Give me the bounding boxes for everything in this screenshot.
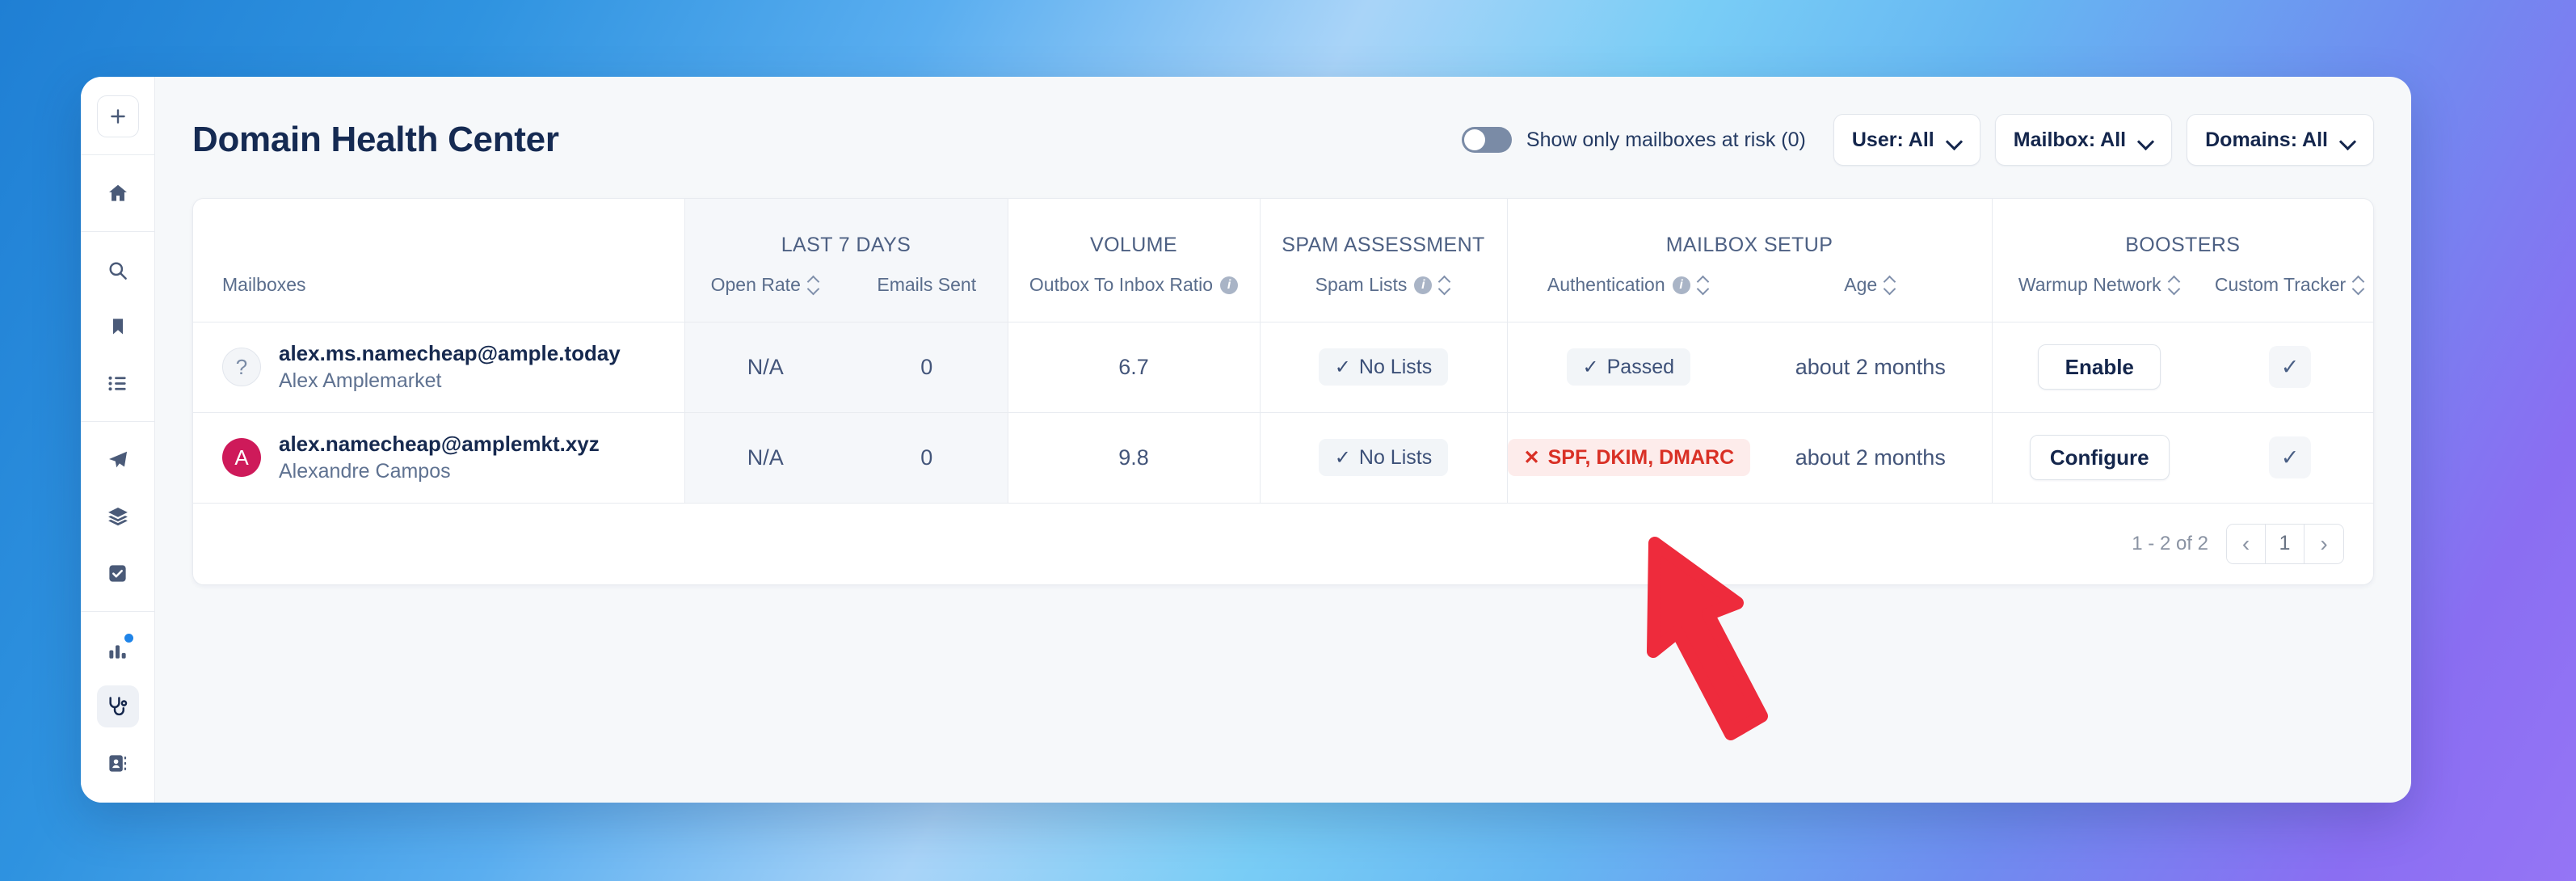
column-header-outbox-to-inbox-ratio: Outbox To Inbox Ratio i — [1008, 262, 1260, 322]
sort-icon[interactable] — [1698, 275, 1710, 296]
mailbox-email[interactable]: alex.ms.namecheap@ample.today — [279, 341, 621, 366]
group-header-volume: VOLUME — [1008, 199, 1260, 262]
risk-filter-toggle-group: Show only mailboxes at risk (0) — [1462, 127, 1806, 153]
desktop-background: Domain Health Center Show only mailboxes… — [0, 0, 2576, 881]
sidebar-group-work — [81, 432, 154, 601]
pagination-prev-button[interactable]: ‹ — [2227, 525, 2266, 563]
filter-mailbox-dropdown[interactable]: Mailbox: All — [1995, 114, 2172, 166]
column-header-open-rate[interactable]: Open Rate — [684, 262, 846, 322]
cell-mailbox: ? alex.ms.namecheap@ample.today Alex Amp… — [193, 322, 684, 412]
status-badge-authentication: ✓ Passed — [1567, 348, 1691, 386]
domain-health-table: LAST 7 DAYS VOLUME SPAM ASSESSMENT MAILB… — [193, 199, 2373, 504]
left-sidebar — [81, 77, 155, 803]
column-header-open-rate-label: Open Rate — [711, 274, 801, 296]
column-header-emails-sent-label: Emails Sent — [877, 274, 976, 296]
info-icon[interactable]: i — [1673, 276, 1690, 294]
notification-dot-badge — [124, 634, 133, 643]
domain-health-table-card: LAST 7 DAYS VOLUME SPAM ASSESSMENT MAILB… — [192, 198, 2374, 585]
column-header-spam-lists[interactable]: Spam Lists i — [1260, 262, 1507, 322]
page-header: Domain Health Center Show only mailboxes… — [192, 109, 2374, 171]
bar-chart-icon — [107, 639, 128, 661]
plus-icon — [107, 106, 128, 127]
sidebar-item-domain-health[interactable] — [97, 685, 139, 727]
status-badge-authentication-label: Passed — [1607, 356, 1674, 379]
table-row[interactable]: ? alex.ms.namecheap@ample.today Alex Amp… — [193, 322, 2373, 412]
sidebar-item-add[interactable] — [97, 95, 139, 137]
pagination-controls: ‹ 1 › — [2226, 524, 2344, 564]
sidebar-item-home[interactable] — [97, 172, 139, 214]
app-window: Domain Health Center Show only mailboxes… — [81, 77, 2411, 803]
avatar: A — [222, 438, 261, 477]
column-header-mailboxes: Mailboxes — [193, 262, 684, 322]
group-header-spam-assessment: SPAM ASSESSMENT — [1260, 199, 1507, 262]
group-header-last-7-days: LAST 7 DAYS — [684, 199, 1008, 262]
table-body: ? alex.ms.namecheap@ample.today Alex Amp… — [193, 322, 2373, 503]
sort-icon[interactable] — [2169, 275, 2181, 296]
cell-spam-lists: ✓ No Lists — [1260, 322, 1507, 412]
sidebar-divider-4 — [81, 611, 154, 612]
checkbox-icon — [107, 563, 128, 584]
cell-authentication: ✓ Passed — [1507, 322, 1749, 412]
show-only-at-risk-label: Show only mailboxes at risk (0) — [1526, 129, 1806, 152]
cell-authentication: ✕ SPF, DKIM, DMARC — [1507, 412, 1749, 503]
mailbox-owner-name: Alex Amplemarket — [279, 369, 621, 393]
column-header-age-label: Age — [1844, 274, 1877, 296]
status-badge-authentication: ✕ SPF, DKIM, DMARC — [1508, 439, 1751, 476]
column-header-warmup-network-label: Warmup Network — [2018, 274, 2161, 296]
status-badge-spam-lists: ✓ No Lists — [1319, 348, 1448, 386]
cell-open-rate: N/A — [684, 322, 846, 412]
paper-plane-icon — [107, 449, 129, 471]
custom-tracker-check-icon[interactable]: ✓ — [2269, 436, 2311, 478]
toggle-knob — [1464, 129, 1485, 150]
group-header-mailbox-setup: MAILBOX SETUP — [1507, 199, 1992, 262]
column-header-authentication-label: Authentication — [1547, 274, 1665, 296]
column-header-authentication[interactable]: Authentication i — [1507, 262, 1749, 322]
column-header-custom-tracker-label: Custom Tracker — [2215, 274, 2346, 296]
column-header-emails-sent: Emails Sent — [846, 262, 1008, 322]
filter-domains-dropdown[interactable]: Domains: All — [2187, 114, 2374, 166]
filter-user-label: User: All — [1852, 129, 1934, 152]
page-title: Domain Health Center — [192, 120, 559, 160]
pagination-next-button[interactable]: › — [2305, 525, 2343, 563]
pagination-info: 1 - 2 of 2 — [2132, 533, 2208, 555]
table-group-header-row: LAST 7 DAYS VOLUME SPAM ASSESSMENT MAILB… — [193, 199, 2373, 262]
status-badge-spam-lists-label: No Lists — [1359, 356, 1432, 379]
sidebar-item-search[interactable] — [97, 249, 139, 291]
pagination: 1 - 2 of 2 ‹ 1 › — [193, 504, 2373, 584]
cell-warmup-network: Configure — [1992, 412, 2207, 503]
column-header-ratio-label: Outbox To Inbox Ratio — [1029, 274, 1213, 296]
check-icon: ✓ — [1335, 356, 1351, 379]
cell-custom-tracker: ✓ — [2207, 322, 2373, 412]
status-badge-spam-lists: ✓ No Lists — [1319, 439, 1448, 476]
filter-mailbox-label: Mailbox: All — [2014, 129, 2126, 152]
contact-card-icon — [107, 752, 128, 774]
cell-age: about 2 months — [1749, 322, 1992, 412]
show-only-at-risk-toggle[interactable] — [1462, 127, 1512, 153]
cell-mailbox: A alex.namecheap@amplemkt.xyz Alexandre … — [193, 412, 684, 503]
filter-domains-label: Domains: All — [2205, 129, 2328, 152]
sidebar-item-bookmarks[interactable] — [97, 306, 139, 348]
filter-user-dropdown[interactable]: User: All — [1833, 114, 1980, 166]
info-icon[interactable]: i — [1220, 276, 1238, 294]
column-header-spam-lists-label: Spam Lists — [1315, 274, 1408, 296]
warmup-configure-button[interactable]: Configure — [2030, 435, 2170, 480]
sort-icon[interactable] — [2353, 275, 2365, 296]
column-header-age[interactable]: Age — [1749, 262, 1992, 322]
cell-warmup-network: Enable — [1992, 322, 2207, 412]
status-badge-spam-lists-label: No Lists — [1359, 446, 1432, 470]
home-icon — [107, 182, 129, 204]
sidebar-item-tasks[interactable] — [97, 552, 139, 594]
sidebar-divider-3 — [81, 421, 154, 422]
sidebar-group-browse — [81, 242, 154, 411]
check-icon: ✓ — [1335, 446, 1351, 470]
cell-emails-sent: 0 — [846, 412, 1008, 503]
info-icon[interactable]: i — [1414, 276, 1432, 294]
sidebar-group-top — [81, 88, 154, 145]
cell-open-rate: N/A — [684, 412, 846, 503]
bookmark-icon — [108, 316, 128, 337]
status-badge-authentication-label: SPF, DKIM, DMARC — [1548, 446, 1735, 470]
main-content: Domain Health Center Show only mailboxes… — [155, 77, 2411, 803]
cross-icon: ✕ — [1524, 446, 1540, 470]
chevron-down-icon — [2341, 136, 2355, 145]
column-header-warmup-network[interactable]: Warmup Network — [1992, 262, 2207, 322]
sidebar-group-insights — [81, 622, 154, 791]
check-icon: ✓ — [1583, 356, 1599, 379]
stethoscope-icon — [107, 695, 129, 718]
sidebar-item-analytics[interactable] — [97, 629, 139, 671]
group-header-spacer — [193, 199, 684, 262]
table-row[interactable]: A alex.namecheap@amplemkt.xyz Alexandre … — [193, 412, 2373, 503]
sidebar-item-lists[interactable] — [97, 362, 139, 404]
chevron-down-icon — [1947, 136, 1962, 145]
sidebar-group-home — [81, 165, 154, 221]
mailbox-owner-name: Alexandre Campos — [279, 460, 600, 483]
column-header-custom-tracker[interactable]: Custom Tracker — [2207, 262, 2373, 322]
sidebar-item-contacts[interactable] — [97, 742, 139, 784]
cell-custom-tracker: ✓ — [2207, 412, 2373, 503]
search-icon — [107, 259, 128, 281]
list-icon — [107, 373, 128, 394]
cell-outbox-to-inbox-ratio: 9.8 — [1008, 412, 1260, 503]
avatar: ? — [222, 348, 261, 386]
sidebar-divider-2 — [81, 231, 154, 232]
warmup-enable-button[interactable]: Enable — [2038, 344, 2161, 390]
layers-icon — [107, 505, 129, 528]
group-header-boosters: BOOSTERS — [1992, 199, 2373, 262]
sidebar-item-send[interactable] — [97, 439, 139, 481]
table-head: LAST 7 DAYS VOLUME SPAM ASSESSMENT MAILB… — [193, 199, 2373, 322]
sort-icon[interactable] — [808, 275, 820, 296]
header-controls: Show only mailboxes at risk (0) User: Al… — [1462, 114, 2374, 166]
sidebar-item-sequences[interactable] — [97, 495, 139, 537]
custom-tracker-check-icon[interactable]: ✓ — [2269, 346, 2311, 388]
mailbox-email[interactable]: alex.namecheap@amplemkt.xyz — [279, 432, 600, 457]
sidebar-divider-1 — [81, 154, 154, 155]
table-column-header-row: Mailboxes Open Rate Emails Sent — [193, 262, 2373, 322]
chevron-down-icon — [2139, 136, 2153, 145]
sort-icon[interactable] — [1439, 275, 1451, 296]
sort-icon[interactable] — [1884, 275, 1896, 296]
cell-age: about 2 months — [1749, 412, 1992, 503]
pagination-page-1[interactable]: 1 — [2266, 525, 2305, 563]
cell-emails-sent: 0 — [846, 322, 1008, 412]
cell-spam-lists: ✓ No Lists — [1260, 412, 1507, 503]
cell-outbox-to-inbox-ratio: 6.7 — [1008, 322, 1260, 412]
